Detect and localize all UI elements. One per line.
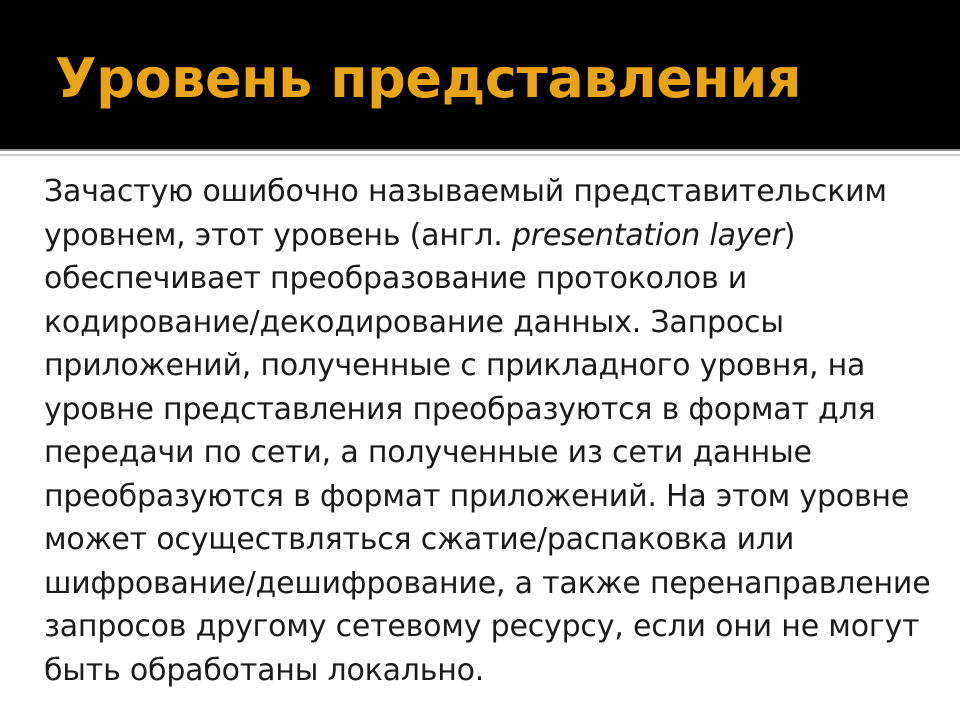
body-segment-rest: ) обеспечивает преобразование протоколов… bbox=[44, 218, 930, 688]
body-segment-english-term: presentation layer bbox=[512, 218, 784, 253]
title-divider bbox=[0, 149, 960, 157]
body-paragraph: Зачастую ошибочно называемый представите… bbox=[44, 170, 934, 692]
divider-rule-bottom bbox=[0, 154, 960, 156]
title-band: Уровень представления bbox=[0, 0, 960, 149]
page-title: Уровень представления bbox=[55, 50, 915, 108]
slide-body-area: Зачастую ошибочно называемый представите… bbox=[0, 160, 960, 720]
presentation-slide: Уровень представления Зачастую ошибочно … bbox=[0, 0, 960, 720]
